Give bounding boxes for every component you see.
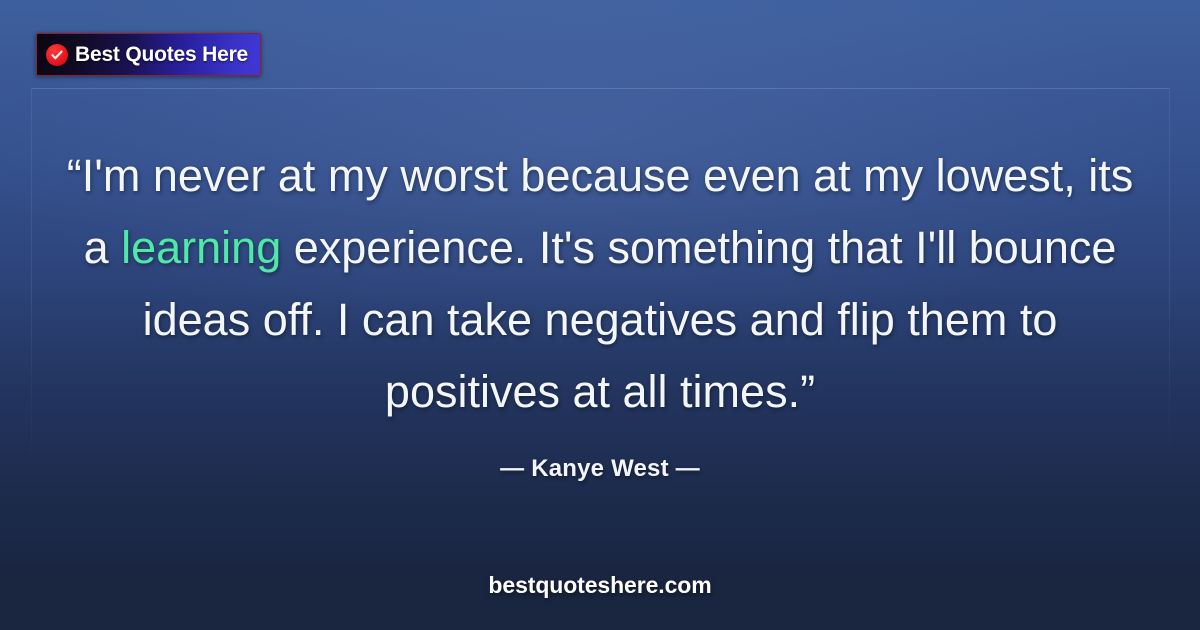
quote-text: “I'm never at my worst because even at m… (60, 140, 1140, 428)
quote-highlight-word: learning (121, 222, 281, 273)
quote-body: “I'm never at my worst because even at m… (60, 140, 1140, 428)
quote-author: — Kanye West — (0, 455, 1200, 483)
quote-text-after-highlight: experience. It's something that I'll bou… (143, 222, 1117, 417)
site-footer-url: bestquoteshere.com (0, 572, 1200, 599)
brand-badge[interactable]: Best Quotes Here (36, 33, 261, 76)
verified-check-icon (46, 44, 68, 66)
quote-card: Best Quotes Here “I'm never at my worst … (0, 0, 1200, 630)
brand-name-label: Best Quotes Here (75, 43, 248, 67)
